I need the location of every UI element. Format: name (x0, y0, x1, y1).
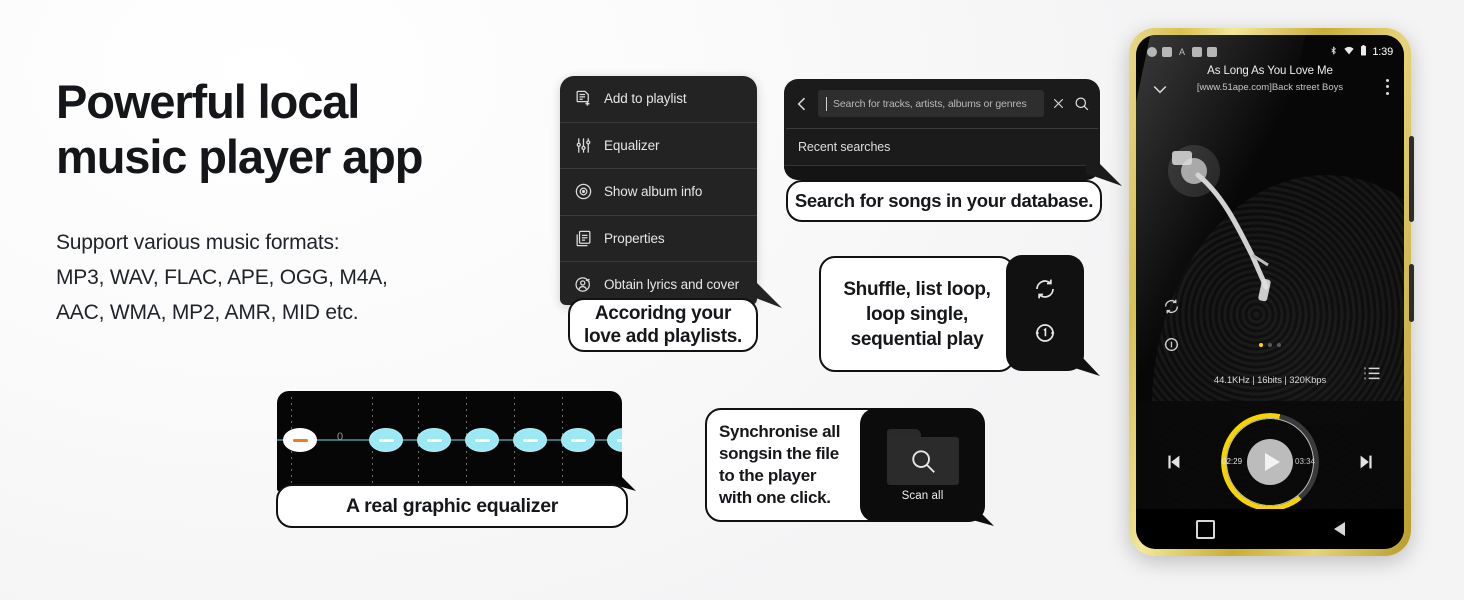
recent-searches-label: Recent searches (784, 129, 1100, 165)
back-triangle-icon[interactable] (1334, 522, 1345, 536)
text-caret (826, 97, 827, 111)
scan-all-label: Scan all (902, 490, 944, 502)
app-icon-4 (1192, 47, 1202, 57)
skip-previous-icon[interactable] (1162, 451, 1184, 473)
menu-item-label: Show album info (604, 184, 702, 199)
chevron-down-icon[interactable] (1150, 79, 1170, 99)
search-input-placeholder: Search for tracks, artists, albums or ge… (833, 98, 1027, 110)
page-dot[interactable] (1259, 343, 1263, 347)
page-dot[interactable] (1277, 343, 1281, 347)
equalizer-zero-label: 0 (337, 431, 343, 443)
shuffle-caption-line-1: Shuffle, list loop, (843, 279, 990, 300)
app-icon-3: A (1177, 47, 1187, 57)
home-square-icon[interactable] (1196, 520, 1215, 539)
menu-item-label: Obtain lyrics and cover (604, 277, 739, 292)
battery-icon (1360, 45, 1367, 59)
folder-search-icon (887, 429, 959, 485)
volume-button[interactable] (1409, 136, 1414, 222)
lyrics-person-icon (574, 275, 593, 294)
app-icon-5 (1207, 47, 1217, 57)
scan-caption-line-1: Synchronise all (719, 422, 840, 441)
play-icon[interactable] (1247, 439, 1293, 485)
loop-icon[interactable] (1032, 276, 1058, 307)
shuffle-caption-bubble: Shuffle, list loop, loop single, sequent… (819, 256, 1015, 372)
playback-modes-card: Shuffle, list loop, loop single, sequent… (819, 256, 1084, 372)
app-icon-1 (1147, 47, 1157, 57)
close-icon[interactable] (1050, 95, 1067, 112)
equalizer-band-knob[interactable] (369, 428, 403, 452)
audio-quality-label: 44.1KHz | 16bits | 320Kbps (1136, 375, 1404, 386)
now-playing-header: As Long As You Love Me [www.51ape.com]Ba… (1136, 65, 1404, 111)
subcopy-line-3: AAC, WMA, MP2, AMR, MID etc. (56, 295, 556, 330)
app-icon-2 (1162, 47, 1172, 57)
status-bar-time: 1:39 (1372, 46, 1393, 58)
status-bar: A 1:39 (1136, 43, 1404, 61)
equalizer-caption-bubble: A real graphic equalizer (276, 484, 628, 528)
equalizer-band-knob[interactable] (561, 428, 595, 452)
page-title: Powerful local music player app (56, 74, 576, 184)
menu-item-label: Equalizer (604, 138, 659, 153)
equalizer-band-knob[interactable] (513, 428, 547, 452)
page-indicator-dots (1259, 343, 1281, 347)
kebab-menu-icon[interactable] (1386, 75, 1390, 95)
documents-icon (574, 229, 593, 248)
search-icon[interactable] (1073, 95, 1090, 112)
playback-controls: 02:29 03:34 (1136, 401, 1404, 523)
disc-icon (574, 182, 593, 201)
equalizer-band-knob[interactable] (283, 428, 317, 452)
equalizer-panel: 0 (277, 391, 622, 491)
equalizer-band-knob[interactable] (465, 428, 499, 452)
playlist-add-icon (574, 89, 593, 108)
total-time: 03:34 (1295, 457, 1315, 466)
elapsed-time: 02:29 (1222, 457, 1242, 466)
equalizer-band-knob[interactable] (417, 428, 451, 452)
scan-caption-line-3: to the player (719, 466, 816, 485)
search-results-area (784, 165, 1100, 180)
tonearm-graphic (1148, 127, 1318, 317)
shuffle-caption-line-3: sequential play (851, 329, 984, 350)
context-menu-card: Add to playlist Equalizer Show album inf… (560, 76, 757, 305)
loop-single-icon[interactable] (1032, 320, 1058, 351)
wifi-icon (1343, 45, 1355, 59)
supported-formats-text: Support various music formats: MP3, WAV,… (56, 225, 556, 330)
menu-item-add-to-playlist[interactable]: Add to playlist (560, 76, 757, 123)
skip-next-icon[interactable] (1356, 451, 1378, 473)
menu-caption-line-2: love add playlists. (584, 326, 742, 347)
search-bar: Search for tracks, artists, albums or ge… (784, 79, 1100, 128)
scan-caption-line-2: songsin the file (719, 444, 839, 463)
scan-card: Synchronise all songsin the file to the … (705, 408, 985, 522)
subcopy-line-1: Support various music formats: (56, 225, 556, 260)
menu-item-equalizer[interactable]: Equalizer (560, 123, 757, 170)
equalizer-sliders-icon (574, 136, 593, 155)
track-title: As Long As You Love Me (1176, 65, 1364, 77)
menu-item-label: Add to playlist (604, 91, 687, 106)
shuffle-caption-line-2: loop single, (866, 304, 968, 325)
scan-caption-line-4: with one click. (719, 488, 831, 507)
menu-item-properties[interactable]: Properties (560, 216, 757, 263)
phone-screen: A 1:39 (1136, 35, 1404, 549)
menu-item-label: Properties (604, 231, 665, 246)
page-dot[interactable] (1268, 343, 1272, 347)
headline-line-2: music player app (56, 129, 576, 184)
search-card: Search for tracks, artists, albums or ge… (784, 79, 1100, 180)
menu-caption-bubble: Accoridng your love add playlists. (568, 298, 758, 352)
track-artist: [www.51ape.com]Back street Boys (1170, 82, 1370, 93)
headline-line-1: Powerful local (56, 75, 359, 128)
android-navigation-bar (1136, 509, 1404, 549)
search-input[interactable]: Search for tracks, artists, albums or ge… (818, 90, 1044, 117)
subcopy-line-2: MP3, WAV, FLAC, APE, OGG, M4A, (56, 260, 556, 295)
promo-banner: Powerful local music player app Support … (0, 0, 1464, 600)
menu-caption-line-1: Accoridng your (595, 303, 731, 324)
search-caption-bubble: Search for songs in your database. (786, 180, 1102, 222)
chevron-left-icon[interactable] (792, 94, 812, 114)
info-icon[interactable] (1162, 335, 1181, 354)
menu-item-show-album-info[interactable]: Show album info (560, 169, 757, 216)
loop-icon[interactable] (1162, 297, 1181, 316)
phone-device: A 1:39 (1129, 28, 1411, 556)
bluetooth-icon (1329, 45, 1338, 59)
power-button[interactable] (1409, 264, 1414, 322)
